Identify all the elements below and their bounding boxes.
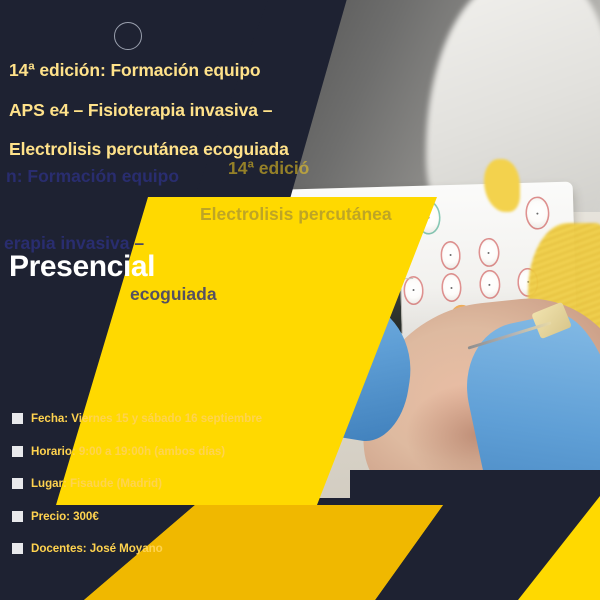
device-channel-knob-2 [334, 206, 359, 241]
course-poster: APS®e4 n: Formación equipo 14ª edició er… [0, 0, 600, 600]
list-item: Fecha: Viernes 15 y sábado 16 septiembre [12, 412, 342, 425]
list-item: Docentes: José Moyano [12, 542, 342, 555]
square-bullet-icon [12, 543, 23, 554]
detail-instructors: Docentes: José Moyano [31, 542, 163, 555]
detail-schedule: Horario: 9:00 a 19:00h (ambos días) [31, 445, 225, 458]
list-item: Horario: 9:00 a 19:00h (ambos días) [12, 445, 342, 458]
device-lead-1 [300, 239, 328, 278]
device-output-knob [525, 195, 550, 230]
device-lead-2 [344, 236, 372, 278]
list-item: Lugar: Fisaude (Madrid) [12, 477, 342, 490]
title-line-1: 14ª edición: Formación equipo [9, 62, 339, 80]
device-channel-knob-3 [375, 203, 400, 238]
device-button-5 [479, 270, 501, 299]
modality-label: Presencial [9, 250, 155, 284]
square-bullet-icon [12, 446, 23, 457]
detail-date: Fecha: Viernes 15 y sábado 16 septiembre [31, 412, 262, 425]
square-bullet-icon [12, 478, 23, 489]
detail-price: Precio: 300€ [31, 510, 99, 523]
device-channel-knob-4 [417, 200, 442, 235]
device-button-4 [441, 272, 463, 301]
device-button-1 [440, 240, 462, 269]
device-button-3 [403, 275, 424, 304]
circle-outline-icon [114, 22, 142, 50]
device-channel-knob-1 [289, 209, 314, 244]
list-item: Precio: 300€ [12, 510, 342, 523]
device-lead-3 [386, 233, 414, 279]
page-title: 14ª edición: Formación equipo APS e4 – F… [9, 62, 339, 181]
title-line-3: Electrolisis percutánea ecoguiada [9, 141, 339, 159]
course-details-list: Fecha: Viernes 15 y sábado 16 septiembre… [12, 412, 342, 575]
detail-location: Lugar: Fisaude (Madrid) [31, 477, 162, 490]
device-button-2 [478, 237, 499, 266]
title-line-2: APS e4 – Fisioterapia invasiva – [9, 102, 339, 120]
square-bullet-icon [12, 511, 23, 522]
square-bullet-icon [12, 413, 23, 424]
